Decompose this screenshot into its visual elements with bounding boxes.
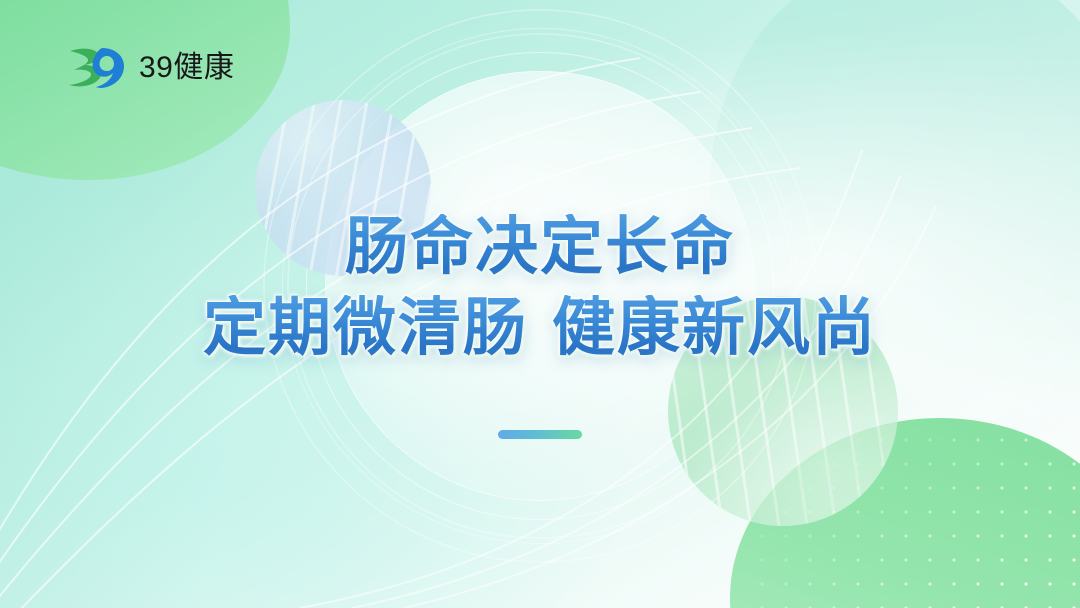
gradient-divider xyxy=(498,430,582,439)
headline-line-2: 定期微清肠 健康新风尚 xyxy=(0,295,1080,362)
blob-bottom-right-icon xyxy=(730,418,1080,608)
brand-logo-text: 39健康 xyxy=(139,53,234,83)
headline-line-1: 肠命决定长命 xyxy=(0,214,1080,281)
brand-logo[interactable]: 39健康 xyxy=(66,45,234,91)
headline-block: 肠命决定长命 定期微清肠 健康新风尚 xyxy=(0,214,1080,362)
39-health-logo-icon xyxy=(66,45,128,91)
poster-canvas: 39健康 肠命决定长命 定期微清肠 健康新风尚 xyxy=(0,0,1080,608)
